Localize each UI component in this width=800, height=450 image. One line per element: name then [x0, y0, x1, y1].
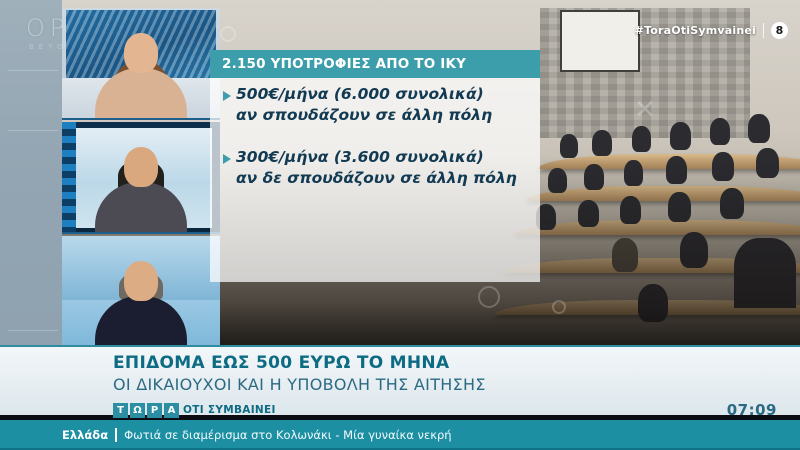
presenter-figure [95, 33, 187, 118]
guest-one-figure [95, 147, 187, 232]
info-panel-header-text: 2.150 ΥΠΟΤΡΟΦΙΕΣ ΑΠΟ ΤΟ ΙΚΥ [222, 56, 466, 72]
info-panel-header: 2.150 ΥΠΟΤΡΟΦΙΕΣ ΑΠΟ ΤΟ ΙΚΥ [210, 50, 540, 78]
bullet-line-2: αν δε σπουδάζουν σε άλλη πόλη [236, 168, 517, 189]
watermark-circle [552, 300, 566, 314]
bullet-triangle-icon [223, 91, 231, 101]
broadcast-screen: ✕ OPEN BEYOND [0, 0, 800, 450]
ticker-divider [115, 428, 117, 442]
hashtag-label: #ToraOtiSymvainei [635, 24, 756, 37]
branding-divider [763, 23, 764, 38]
channel-number-badge: 8 [771, 22, 788, 39]
bullet-line-1: 300€/μήνα (3.600 συνολικά) [236, 148, 484, 166]
top-right-branding: #ToraOtiSymvainei 8 [635, 22, 788, 39]
bullet-triangle-icon [223, 154, 231, 164]
guest-two-figure [95, 261, 187, 346]
banner-headline: ΕΠΙΔΟΜΑ ΕΩΣ 500 ΕΥΡΩ ΤΟ ΜΗΝΑ [113, 353, 449, 373]
bullet-item: 300€/μήνα (3.600 συνολικά) αν δε σπουδάζ… [220, 147, 530, 188]
guest-side-stripe [62, 122, 76, 232]
now-label: ΟΤΙ ΣΥΜΒΑΙΝΕΙ [183, 404, 276, 416]
ticker-headline: Φωτιά σε διαμέρισμα στο Κολωνάκι - Μία γ… [124, 428, 451, 442]
banner-accent-line [0, 345, 800, 347]
tora-letter-box: Τ [113, 403, 128, 418]
bullet-text: 300€/μήνα (3.600 συνολικά) αν δε σπουδάζ… [236, 147, 517, 188]
news-ticker: Ελλάδα Φωτιά σε διαμέρισμα στο Κολωνάκι … [0, 420, 800, 450]
bullet-text: 500€/μήνα (6.000 συνολικά) αν σπουδάζουν… [236, 84, 492, 125]
info-panel-bullets: 500€/μήνα (6.000 συνολικά) αν σπουδάζουν… [210, 84, 540, 204]
tora-letter-box: Ρ [147, 403, 162, 418]
watermark-x: ✕ [634, 95, 656, 125]
left-gray-column [0, 0, 62, 345]
clock-display: 07:09 [727, 401, 777, 419]
video-panel-guest-one[interactable] [62, 122, 220, 234]
tora-letter-box: Α [164, 403, 179, 418]
tora-logo: Τ Ω Ρ Α [113, 403, 179, 418]
tora-letter-box: Ω [130, 403, 145, 418]
watermark-circle [220, 26, 236, 42]
bullet-line-2: αν σπουδάζουν σε άλλη πόλη [236, 105, 492, 126]
video-panel-presenter[interactable] [62, 8, 220, 120]
banner-subheadline: ΟΙ ΔΙΚΑΙΟΥΧΟΙ ΚΑΙ Η ΥΠΟΒΟΛΗ ΤΗΣ ΑΙΤΗΣΗΣ [113, 375, 486, 394]
watermark-circle [478, 286, 500, 308]
video-panel-guest-two[interactable] [62, 236, 220, 346]
now-row: Τ Ω Ρ Α ΟΤΙ ΣΥΜΒΑΙΝΕΙ 07:09 [0, 398, 800, 422]
ticker-category: Ελλάδα [62, 428, 108, 442]
bullet-item: 500€/μήνα (6.000 συνολικά) αν σπουδάζουν… [220, 84, 530, 125]
bullet-line-1: 500€/μήνα (6.000 συνολικά) [236, 85, 484, 103]
info-graphic-panel: 2.150 ΥΠΟΤΡΟΦΙΕΣ ΑΠΟ ΤΟ ΙΚΥ 500€/μήνα (6… [210, 50, 540, 282]
